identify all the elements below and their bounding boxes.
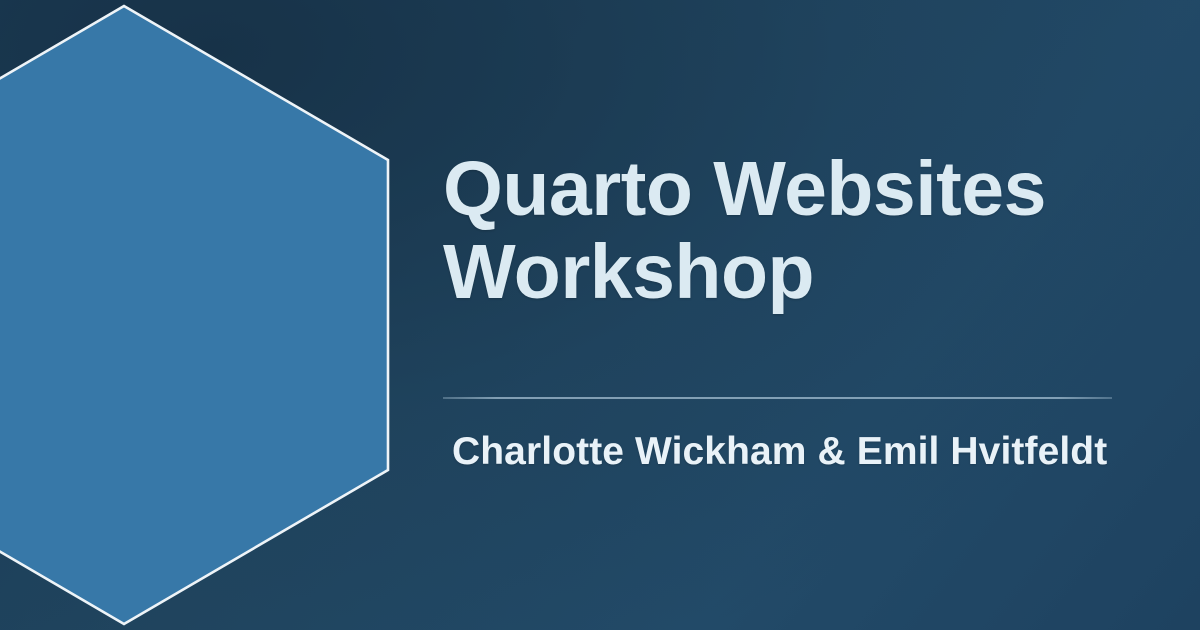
title-slide: Quarto Websites Workshop Charlotte Wickh… <box>0 0 1200 630</box>
title-divider <box>443 397 1112 399</box>
slide-subtitle-authors: Charlotte Wickham & Emil Hvitfeldt <box>452 428 1142 477</box>
slide-content: Quarto Websites Workshop Charlotte Wickh… <box>443 0 1143 630</box>
page-title: Quarto Websites Workshop <box>443 148 1143 314</box>
hexagon-shape <box>0 6 388 624</box>
